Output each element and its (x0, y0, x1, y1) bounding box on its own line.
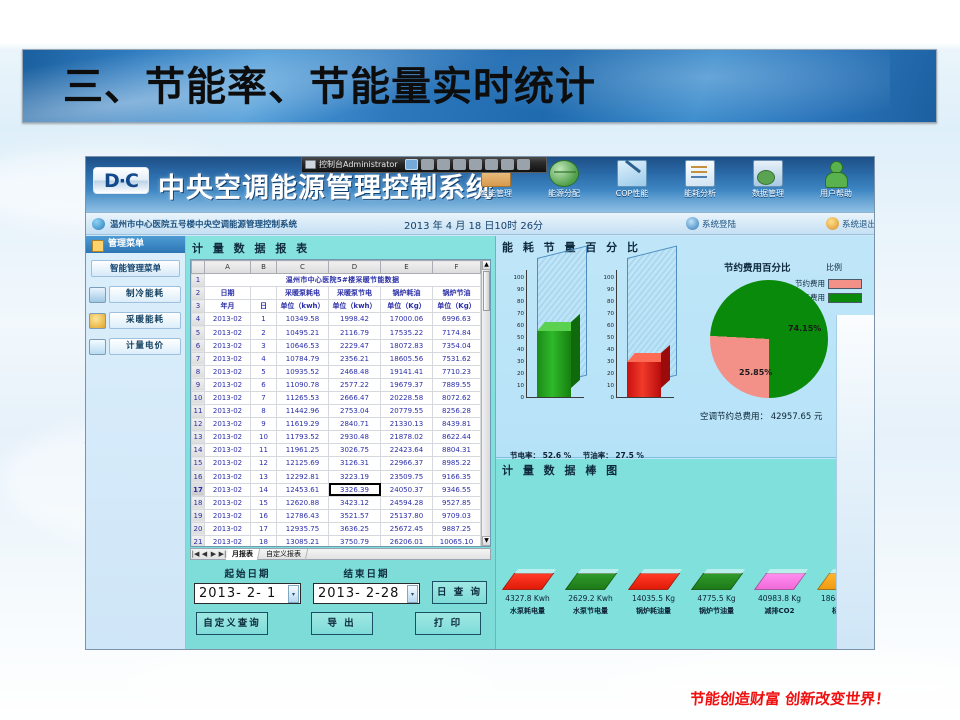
footer-slogan: 节能创造财富 创新改变世界！ (689, 688, 891, 709)
table-cell[interactable]: 20779.55 (381, 405, 433, 418)
energy-percentage-section: 能 耗 节 量 百 分 比 1009080 706050 403020 100 (496, 236, 874, 458)
table-cell[interactable]: 8256.28 (433, 405, 481, 418)
row-number[interactable]: 20 (192, 522, 205, 535)
sidebar-item-smart-menu[interactable]: 智能管理菜单 (91, 260, 180, 277)
drive-tool-icon[interactable] (437, 159, 450, 170)
row-number[interactable]: 10 (192, 391, 205, 404)
data-bar-column: 14035.5 Kg锅炉耗油量 (622, 573, 685, 647)
sidebar-item-label: 制冷能耗 (109, 286, 181, 303)
table-cell[interactable]: 21878.02 (381, 431, 433, 444)
col-letter[interactable]: F (433, 261, 481, 274)
sidebar-item-heating[interactable]: 采暖能耗 (89, 312, 181, 329)
table-cell[interactable]: 8622.44 (433, 431, 481, 444)
col-letter[interactable]: A (205, 261, 251, 274)
table-row: 202013-021712935.753636.2525672.459887.2… (192, 522, 481, 535)
sidebar-item-label: 采暖能耗 (109, 312, 181, 329)
table-cell[interactable]: 11442.96 (277, 405, 329, 418)
legend-swatch (828, 279, 862, 289)
start-date-field: 起始日期 2013- 2- 1 ▾ (194, 566, 301, 604)
table-cell[interactable]: 1998.42 (329, 313, 381, 326)
end-date-input[interactable]: 2013- 2-28 ▾ (313, 583, 420, 604)
table-cell[interactable]: 2468.48 (329, 365, 381, 378)
table-cell[interactable]: 2013-02 (205, 496, 251, 509)
table-cell[interactable]: 2013-02 (205, 509, 251, 522)
action-button-row: 自定义查询 导 出 打 印 (194, 604, 487, 635)
col-letter[interactable]: E (381, 261, 433, 274)
pie-label-actual: 74.15% (788, 324, 821, 333)
legend-swatch (828, 293, 862, 303)
table-cell[interactable]: 3750.79 (329, 535, 381, 547)
sidebar-item-label: 计量电价 (109, 338, 181, 355)
data-bar-chart: 4327.8 Kwh水泵耗电量2629.2 Kwh水泵节电量14035.5 Kg… (496, 573, 874, 647)
header-cell: 锅炉耗油 (381, 287, 433, 300)
data-bar-slab (753, 573, 805, 590)
sidebar-item-price[interactable]: 计量电价 (89, 338, 181, 355)
info-strip: 温州市中心医院五号楼中央空调能源管理控制系统 2013 年 4 月 18 日10… (86, 213, 874, 235)
toolbar-item-cop-performance[interactable]: COP性能 (598, 158, 666, 199)
fullscreen-tool-icon[interactable] (469, 159, 482, 170)
table-cell[interactable]: 9166.35 (433, 470, 481, 483)
table-cell[interactable]: 16 (251, 509, 277, 522)
next-sheet-icon[interactable]: ▶ (209, 550, 218, 558)
scroll-up-icon[interactable]: ▲ (482, 260, 491, 270)
end-date-value: 2013- 2-28 (318, 586, 399, 601)
cloud-decoration (120, 640, 500, 720)
table-cell[interactable]: 26206.01 (381, 535, 433, 547)
table-cell[interactable]: 13085.21 (277, 535, 329, 547)
table-cell[interactable]: 18605.56 (381, 352, 433, 365)
table-cell[interactable]: 11265.53 (277, 391, 329, 404)
table-cell[interactable]: 2013-02 (205, 352, 251, 365)
screen-tool-icon[interactable] (405, 159, 418, 170)
user-icon (821, 160, 851, 187)
table-cell[interactable]: 8439.81 (433, 418, 481, 431)
pointer-tool-icon[interactable] (453, 159, 466, 170)
sheet-title-cell: 温州市中心医院5#楼采暖节能数据 (205, 274, 481, 287)
table-row: 112013-02811442.962753.0420779.558256.28 (192, 405, 481, 418)
header-cell: 日 (251, 300, 277, 313)
table-row: 62013-02310646.532229.4718072.837354.04 (192, 339, 481, 352)
data-bar-value: 2629.2 Kwh (559, 594, 622, 603)
table-cell[interactable]: 11793.52 (277, 431, 329, 444)
table-cell[interactable]: 2013-02 (205, 326, 251, 339)
tab-label: 自定义报表 (266, 549, 301, 560)
header-cell: 单位（Kg） (433, 300, 481, 313)
sidebar-item-cooling[interactable]: 制冷能耗 (89, 286, 181, 303)
table-cell[interactable]: 24594.28 (381, 496, 433, 509)
table-cell[interactable]: 20228.58 (381, 391, 433, 404)
row-number[interactable]: 19 (192, 509, 205, 522)
percentage-bar-chart: 1009080 706050 403020 100 (502, 260, 687, 420)
table-cell[interactable]: 11090.78 (277, 378, 329, 391)
table-cell[interactable]: 4 (251, 352, 277, 365)
table-cell[interactable]: 10065.10 (433, 535, 481, 547)
table-cell[interactable]: 9527.85 (433, 496, 481, 509)
bar-unit-power-saving: 1009080 706050 403020 100 (508, 270, 588, 408)
table-cell[interactable]: 8 (251, 405, 277, 418)
table-cell[interactable]: 19141.41 (381, 365, 433, 378)
pie-chart-title: 节约费用百分比 (724, 260, 791, 274)
site-name-label: 温州市中心医院五号楼中央空调能源管理控制系统 (110, 218, 297, 230)
table-cell[interactable]: 10 (251, 431, 277, 444)
row-number[interactable]: 16 (192, 470, 205, 483)
table-row: 142013-021111961.253026.7522423.648804.3… (192, 444, 481, 457)
table-cell[interactable]: 23509.75 (381, 470, 433, 483)
table-cell[interactable]: 7354.04 (433, 339, 481, 352)
table-cell[interactable]: 12292.81 (277, 470, 329, 483)
row-number[interactable]: 4 (192, 313, 205, 326)
table-cell[interactable]: 22423.64 (381, 444, 433, 457)
data-bar-label: 锅炉耗油量 (622, 606, 685, 616)
data-bar-column: 40983.8 Kg减排CO2 (748, 573, 811, 647)
table-cell[interactable]: 2930.48 (329, 431, 381, 444)
table-cell[interactable]: 2013-02 (205, 418, 251, 431)
pie-graphic (710, 280, 828, 398)
table-cell[interactable]: 7889.55 (433, 378, 481, 391)
row-number[interactable]: 8 (192, 365, 205, 378)
day-query-button[interactable]: 日 查 询 (432, 581, 487, 604)
table-cell[interactable]: 19679.37 (381, 378, 433, 391)
header-cell: 单位（Kg） (381, 300, 433, 313)
hand-tool-icon[interactable] (485, 159, 498, 170)
toolbar-item-user-help[interactable]: 用户帮助 (802, 158, 870, 199)
data-bar-slab (627, 573, 679, 590)
row-number[interactable]: 2 (192, 287, 205, 300)
table-cell[interactable]: 17 (251, 522, 277, 535)
report-panel: 计 量 数 据 报 表 A B C D E F 1 温州市中心医院5#楼采暖节能… (186, 236, 496, 649)
data-bar-value: 14035.5 Kg (622, 594, 685, 603)
table-cell[interactable]: 7710.23 (433, 365, 481, 378)
table-cell[interactable]: 3326.39 (329, 483, 381, 496)
table-cell[interactable]: 2666.47 (329, 391, 381, 404)
row-number[interactable]: 9 (192, 378, 205, 391)
table-cell[interactable]: 5 (251, 365, 277, 378)
bar-face (627, 362, 661, 397)
data-bar-label: 减排CO2 (748, 606, 811, 616)
table-row: 122013-02911619.292840.7121330.138439.81 (192, 418, 481, 431)
corner-cell (192, 261, 205, 274)
chevron-down-icon[interactable]: ▾ (407, 585, 418, 603)
table-cell[interactable]: 3 (251, 339, 277, 352)
bar-side (571, 314, 580, 388)
spreadsheet-table: A B C D E F 1 温州市中心医院5#楼采暖节能数据 2 日期 (191, 260, 481, 547)
table-cell[interactable]: 7174.84 (433, 326, 481, 339)
table-cell[interactable]: 2840.71 (329, 418, 381, 431)
datetime-label: 2013 年 4 月 18 日10时 26分 (404, 217, 543, 232)
export-button[interactable]: 导 出 (311, 612, 373, 635)
table-row: 52013-02210495.212116.7917535.227174.84 (192, 326, 481, 339)
table-cell[interactable]: 7531.62 (433, 352, 481, 365)
bar-face (537, 331, 571, 397)
toolbar-item-energy-analysis[interactable]: 能耗分析 (666, 158, 734, 199)
bar-plot-area (526, 270, 584, 398)
legend-item-saved-cost: 节约费用 (795, 278, 862, 289)
col-letter[interactable]: B (251, 261, 277, 274)
table-cell[interactable]: 3423.12 (329, 496, 381, 509)
header-cell (251, 287, 277, 300)
bar-y-axis: 1009080 706050 403020 100 (508, 276, 524, 398)
table-cell[interactable]: 10784.79 (277, 352, 329, 365)
sidebar-header: 管理菜单 (86, 236, 185, 253)
table-row: 192013-021612786.433521.5725137.809709.0… (192, 509, 481, 522)
table-cell[interactable]: 10646.53 (277, 339, 329, 352)
table-cell[interactable]: 8072.62 (433, 391, 481, 404)
query-form: 起始日期 2013- 2- 1 ▾ 结束日期 2013- 2-28 ▾ 日 (186, 560, 495, 635)
table-cell[interactable]: 15 (251, 496, 277, 509)
data-bar-column: 4327.8 Kwh水泵耗电量 (496, 573, 559, 647)
data-bar-column: 2629.2 Kwh水泵节电量 (559, 573, 622, 647)
row-number[interactable]: 6 (192, 339, 205, 352)
heating-icon (89, 313, 106, 329)
table-cell[interactable]: 2 (251, 326, 277, 339)
data-bar-value: 4775.5 Kg (685, 594, 748, 603)
header-cell: 日期 (205, 287, 251, 300)
table-cell[interactable]: 9709.03 (433, 509, 481, 522)
table-row: 172013-021412453.613326.3924050.379346.5… (192, 483, 481, 496)
row-number[interactable]: 13 (192, 431, 205, 444)
folder-icon (753, 160, 783, 187)
tab-label: 月报表 (232, 549, 253, 560)
prev-sheet-icon[interactable]: ◀ (200, 550, 209, 558)
legend-title: 比例 (826, 262, 842, 273)
header-cell: 单位（kwh） (277, 300, 329, 313)
table-row: 42013-02110349.581998.4217000.066996.63 (192, 313, 481, 326)
report-icon (685, 160, 715, 187)
bar-power-saving (537, 331, 571, 397)
sidebar: 管理菜单 智能管理菜单 制冷能耗 采暖能耗 计量电价 (86, 236, 186, 649)
table-cell[interactable]: 2013-02 (205, 339, 251, 352)
table-cell[interactable]: 2229.47 (329, 339, 381, 352)
data-bar-value: 40983.8 Kg (748, 594, 811, 603)
slide-title-banner: 三、节能率、节能量实时统计 (22, 49, 937, 123)
table-cell[interactable]: 13 (251, 470, 277, 483)
table-cell[interactable]: 14 (251, 483, 277, 496)
toolbar-label: 数据管理 (734, 188, 802, 199)
data-bar-title: 计 量 数 据 棒 图 (496, 459, 874, 478)
col-letter[interactable]: C (277, 261, 329, 274)
table-cell[interactable]: 2116.79 (329, 326, 381, 339)
table-cell[interactable]: 2013-02 (205, 444, 251, 457)
print-button[interactable]: 打 印 (415, 612, 481, 635)
pie-label-saved: 25.85% (739, 368, 772, 377)
start-date-label: 起始日期 (194, 566, 301, 580)
data-bar-label: 锅炉节油量 (685, 606, 748, 616)
volume-tool-icon[interactable] (517, 159, 530, 170)
table-row: 182013-021512620.883423.1224594.289527.8… (192, 496, 481, 509)
system-logout-link[interactable]: 系统退出 (842, 218, 875, 230)
data-bar-value: 4327.8 Kwh (496, 594, 559, 603)
total-saving-annotation: 空调节约总费用： 42957.65 元 (700, 410, 822, 422)
row-number[interactable]: 5 (192, 326, 205, 339)
table-row: 1 温州市中心医院5#楼采暖节能数据 (192, 274, 481, 287)
table-cell[interactable]: 8804.31 (433, 444, 481, 457)
window-right-edge (836, 315, 874, 649)
table-cell[interactable]: 18072.83 (381, 339, 433, 352)
table-cell[interactable]: 2577.22 (329, 378, 381, 391)
application-window: D·C 中央空调能源管理控制系统 控制台Administrator 智能管理 能… (85, 156, 875, 650)
table-cell[interactable]: 6 (251, 378, 277, 391)
table-row: 152013-021212125.693126.3122966.378985.2… (192, 457, 481, 470)
table-cell[interactable]: 3223.19 (329, 470, 381, 483)
bar-unit-oil-saving: 1009080 706050 403020 100 (598, 270, 678, 408)
scrollbar-thumb[interactable] (483, 271, 490, 311)
table-cell[interactable]: 10349.58 (277, 313, 329, 326)
cloud-decoration (600, 650, 960, 720)
table-row: 132013-021011793.522930.4821878.028622.4… (192, 431, 481, 444)
spreadsheet[interactable]: A B C D E F 1 温州市中心医院5#楼采暖节能数据 2 日期 (190, 259, 491, 547)
header-cell: 采暖泵节电 (329, 287, 381, 300)
app-body: 管理菜单 智能管理菜单 制冷能耗 采暖能耗 计量电价 计 量 数 据 报 表 (86, 236, 874, 649)
table-cell[interactable]: 9 (251, 418, 277, 431)
toolbar-item-data-management[interactable]: 数据管理 (734, 158, 802, 199)
table-cell[interactable]: 2013-02 (205, 522, 251, 535)
table-cell[interactable]: 11 (251, 444, 277, 457)
table-cell[interactable]: 3126.31 (329, 457, 381, 470)
system-login-link[interactable]: 系统登陆 (702, 218, 736, 230)
header-cell: 采暖泵耗电 (277, 287, 329, 300)
app-logo: D·C (93, 167, 149, 194)
globe-icon (549, 160, 579, 187)
table-cell[interactable]: 9887.25 (433, 522, 481, 535)
data-bar-slab (501, 573, 553, 590)
spreadsheet-data-rows: 42013-02110349.581998.4217000.066996.635… (192, 313, 481, 547)
table-cell[interactable]: 9346.55 (433, 483, 481, 496)
table-cell[interactable]: 21330.13 (381, 418, 433, 431)
table-row: 102013-02711265.532666.4720228.588072.62 (192, 391, 481, 404)
table-row: 82013-02510935.522468.4819141.417710.23 (192, 365, 481, 378)
start-date-value: 2013- 2- 1 (199, 586, 276, 601)
legend-label: 节约费用 (795, 278, 825, 289)
custom-query-button[interactable]: 自定义查询 (196, 612, 268, 635)
table-cell[interactable]: 24050.37 (381, 483, 433, 496)
bar-side (661, 345, 670, 388)
end-date-field: 结束日期 2013- 2-28 ▾ (313, 566, 420, 604)
table-cell[interactable]: 12620.88 (277, 496, 329, 509)
table-row: 72013-02410784.792356.2118605.567531.62 (192, 352, 481, 365)
toolbar-label: 用户帮助 (802, 188, 870, 199)
table-cell[interactable]: 1 (251, 313, 277, 326)
toolbar-label: COP性能 (598, 188, 666, 199)
col-letter[interactable]: D (329, 261, 381, 274)
table-cell[interactable]: 12786.43 (277, 509, 329, 522)
row-number[interactable]: 11 (192, 405, 205, 418)
cop-icon (617, 160, 647, 187)
bar-y-axis: 1009080 706050 403020 100 (598, 276, 614, 398)
tab-custom-report[interactable]: 自定义报表 (260, 549, 308, 560)
charts-panel: 能 耗 节 量 百 分 比 1009080 706050 403020 100 (496, 236, 874, 649)
row-number[interactable]: 14 (192, 444, 205, 457)
row-number[interactable]: 21 (192, 535, 205, 547)
table-cell[interactable]: 25137.80 (381, 509, 433, 522)
table-cell[interactable]: 2013-02 (205, 470, 251, 483)
header-cell: 锅炉节油 (433, 287, 481, 300)
table-cell[interactable]: 2013-02 (205, 431, 251, 444)
table-cell[interactable]: 2013-02 (205, 378, 251, 391)
price-icon (89, 339, 106, 355)
table-cell[interactable]: 17000.06 (381, 313, 433, 326)
table-cell[interactable]: 2356.21 (329, 352, 381, 365)
row-number[interactable]: 17 (192, 483, 205, 496)
table-cell[interactable]: 12125.69 (277, 457, 329, 470)
table-cell[interactable]: 12 (251, 457, 277, 470)
table-cell[interactable]: 2013-02 (205, 457, 251, 470)
table-row: 162013-021312292.813223.1923509.759166.3… (192, 470, 481, 483)
table-cell[interactable]: 3521.57 (329, 509, 381, 522)
table-cell[interactable]: 2013-02 (205, 483, 251, 496)
table-cell[interactable]: 3636.25 (329, 522, 381, 535)
table-cell[interactable]: 12453.61 (277, 483, 329, 496)
table-cell[interactable]: 25672.45 (381, 522, 433, 535)
table-cell[interactable]: 7 (251, 391, 277, 404)
page-title: 三、节能率、节能量实时统计 (23, 50, 936, 123)
toolbar-label: 智能管理 (462, 188, 530, 199)
table-row: 3 年月 日 单位（kwh） 单位（kwh） 单位（Kg） 单位（Kg） (192, 300, 481, 313)
table-cell[interactable]: 2013-02 (205, 391, 251, 404)
table-cell[interactable]: 17535.22 (381, 326, 433, 339)
table-cell[interactable]: 2013-02 (205, 365, 251, 378)
table-cell[interactable]: 2013-02 (205, 405, 251, 418)
tab-monthly-report[interactable]: 月报表 (226, 549, 260, 560)
monitor-icon (305, 160, 316, 169)
keyboard-tool-icon[interactable] (501, 159, 514, 170)
data-bar-section: 计 量 数 据 棒 图 4327.8 Kwh水泵耗电量2629.2 Kwh水泵节… (496, 459, 874, 649)
table-cell[interactable]: 10935.52 (277, 365, 329, 378)
mouse-tool-icon[interactable] (421, 159, 434, 170)
scroll-down-icon[interactable]: ▼ (482, 536, 491, 546)
table-row: 92013-02611090.782577.2219679.377889.55 (192, 378, 481, 391)
table-cell[interactable]: 6996.63 (433, 313, 481, 326)
data-bar-slab (564, 573, 616, 590)
spreadsheet-vertical-scrollbar[interactable]: ▲ ▼ (481, 260, 490, 546)
bar-plot-area (616, 270, 674, 398)
row-number[interactable]: 18 (192, 496, 205, 509)
row-number[interactable]: 7 (192, 352, 205, 365)
row-number[interactable]: 12 (192, 418, 205, 431)
table-cell[interactable]: 2753.04 (329, 405, 381, 418)
start-date-input[interactable]: 2013- 2- 1 ▾ (194, 583, 301, 604)
console-titlebar[interactable]: 控制台Administrator (301, 157, 547, 173)
row-number[interactable]: 3 (192, 300, 205, 313)
table-cell[interactable]: 3026.75 (329, 444, 381, 457)
data-bar-label: 水泵节电量 (559, 606, 622, 616)
data-bar-slab (690, 573, 742, 590)
table-cell[interactable]: 2013-02 (205, 313, 251, 326)
row-number[interactable]: 15 (192, 457, 205, 470)
table-cell[interactable]: 8985.22 (433, 457, 481, 470)
end-date-label: 结束日期 (313, 566, 420, 580)
table-cell[interactable]: 11961.25 (277, 444, 329, 457)
table-row: 212013-021813085.213750.7926206.0110065.… (192, 535, 481, 547)
row-number[interactable]: 1 (192, 274, 205, 287)
toolbar-label: 能耗分析 (666, 188, 734, 199)
chevron-down-icon[interactable]: ▾ (288, 585, 299, 603)
app-header: D·C 中央空调能源管理控制系统 控制台Administrator 智能管理 能… (86, 157, 874, 213)
header-cell: 单位（kwh） (329, 300, 381, 313)
table-cell[interactable]: 2013-02 (205, 535, 251, 547)
sheet-tab-strip: |◀ ◀ ▶ ▶| 月报表 自定义报表 (190, 548, 491, 560)
table-cell[interactable]: 18 (251, 535, 277, 547)
console-title-label: 控制台Administrator (319, 159, 398, 170)
header-cell: 年月 (205, 300, 251, 313)
table-cell[interactable]: 10495.21 (277, 326, 329, 339)
table-cell[interactable]: 22966.37 (381, 457, 433, 470)
cooling-icon (89, 287, 106, 303)
table-cell[interactable]: 12935.75 (277, 522, 329, 535)
table-cell[interactable]: 11619.29 (277, 418, 329, 431)
report-panel-title: 计 量 数 据 报 表 (186, 236, 495, 259)
first-sheet-icon[interactable]: |◀ (191, 550, 200, 558)
table-row: 2 日期 采暖泵耗电 采暖泵节电 锅炉耗油 锅炉节油 (192, 287, 481, 300)
